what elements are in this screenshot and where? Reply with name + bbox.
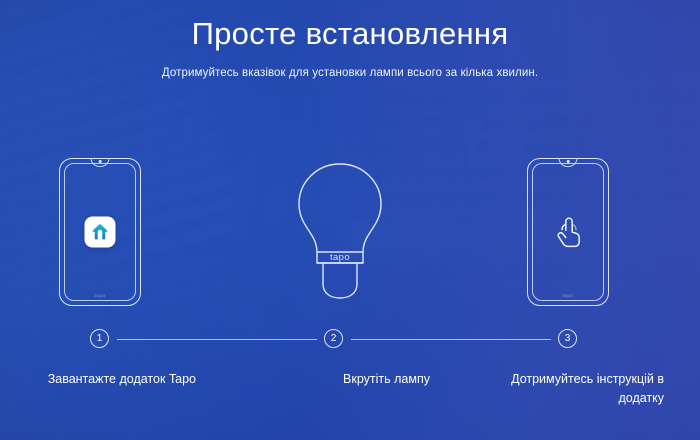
step-number-1: 1: [90, 329, 109, 348]
step-connector-2-3: [351, 339, 551, 340]
steps-row: 1 2 3 Завантажте додаток Tapo Вкрутіть л…: [0, 0, 700, 440]
installation-steps-banner: Просте встановлення Дотримуйтесь вказіво…: [0, 0, 700, 440]
step-number-2: 2: [324, 329, 343, 348]
step-label-2: Вкрутіть лампу: [230, 370, 430, 389]
step-label-3: Дотримуйтесь інструкцій в додатку: [464, 370, 664, 408]
step-number-3: 3: [558, 329, 577, 348]
step-connector-1-2: [117, 339, 317, 340]
step-label-1: Завантажте додаток Tapo: [0, 370, 196, 389]
